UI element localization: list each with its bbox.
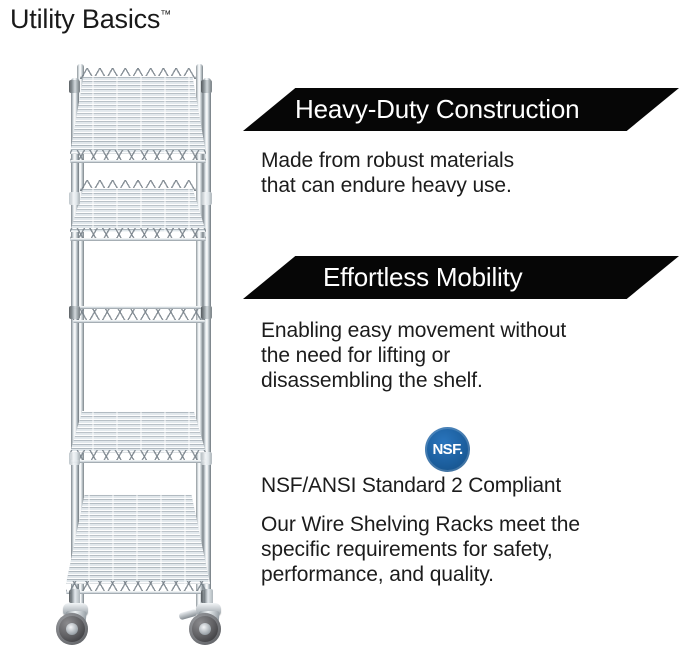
collar-front-right-4 xyxy=(201,452,212,465)
brand-logo: Utility Basics™ xyxy=(10,4,171,35)
caster-left xyxy=(54,589,98,645)
collar-front-left-3 xyxy=(69,306,80,319)
collar-front-left-4 xyxy=(69,452,80,465)
caster-right xyxy=(187,589,231,645)
shelf-2-edge xyxy=(70,238,206,241)
shelf-1 xyxy=(80,68,196,76)
feature-body-effortless-mobility: Enabling easy movement without the need … xyxy=(261,318,566,393)
shelf-1-ribs xyxy=(70,76,206,154)
feature-banner-label: Effortless Mobility xyxy=(323,262,522,293)
shelf-3-edge-bottom xyxy=(73,320,205,323)
nsf-badge-label: NSF. xyxy=(432,441,462,458)
certification-heading: NSF/ANSI Standard 2 Compliant xyxy=(261,474,561,498)
feature-banner-effortless-mobility: Effortless Mobility xyxy=(243,256,679,299)
caster-right-hub xyxy=(199,623,211,635)
shelf-4-surface xyxy=(70,411,206,453)
brand-name: Utility Basics xyxy=(10,4,160,34)
shelf-2-deck xyxy=(70,188,206,232)
product-image-wire-shelving-rack xyxy=(44,56,239,645)
shelf-4-ribs xyxy=(70,411,206,453)
shelf-5-ribs xyxy=(66,494,210,584)
shelf-3-edge-top xyxy=(73,306,205,309)
feature-body-heavy-duty-construction: Made from robust materials that can endu… xyxy=(261,148,514,198)
shelf-4-edge xyxy=(70,460,206,463)
collar-front-right-1 xyxy=(201,80,212,93)
shelf-2-ribs xyxy=(70,188,206,232)
collar-front-right-2 xyxy=(201,192,212,205)
shelf-2-surface xyxy=(70,188,206,232)
shelf-4-deck xyxy=(70,411,206,453)
shelf-1-surface xyxy=(70,76,206,154)
feature-content-column: Heavy-Duty Construction Made from robust… xyxy=(243,0,679,645)
feature-banner-label: Heavy-Duty Construction xyxy=(295,94,579,125)
feature-banner-heavy-duty-construction: Heavy-Duty Construction xyxy=(243,88,679,131)
shelf-1-deck xyxy=(70,76,206,154)
certification-body: Our Wire Shelving Racks meet the specifi… xyxy=(261,512,580,587)
shelving-unit xyxy=(44,56,239,645)
infographic-page: Utility Basics™ xyxy=(0,0,679,645)
collar-front-right-3 xyxy=(201,306,212,319)
caster-left-hub xyxy=(66,623,78,635)
shelf-1-edge xyxy=(70,160,206,163)
shelf-5-deck xyxy=(66,494,210,584)
shelf-5-surface xyxy=(66,494,210,584)
shelf-3-truss xyxy=(73,309,205,320)
shelf-2 xyxy=(80,180,196,188)
collar-front-left-1 xyxy=(69,80,80,93)
trademark-symbol: ™ xyxy=(160,9,171,21)
nsf-certification-icon: NSF. xyxy=(425,427,470,472)
collar-front-left-2 xyxy=(69,192,80,205)
